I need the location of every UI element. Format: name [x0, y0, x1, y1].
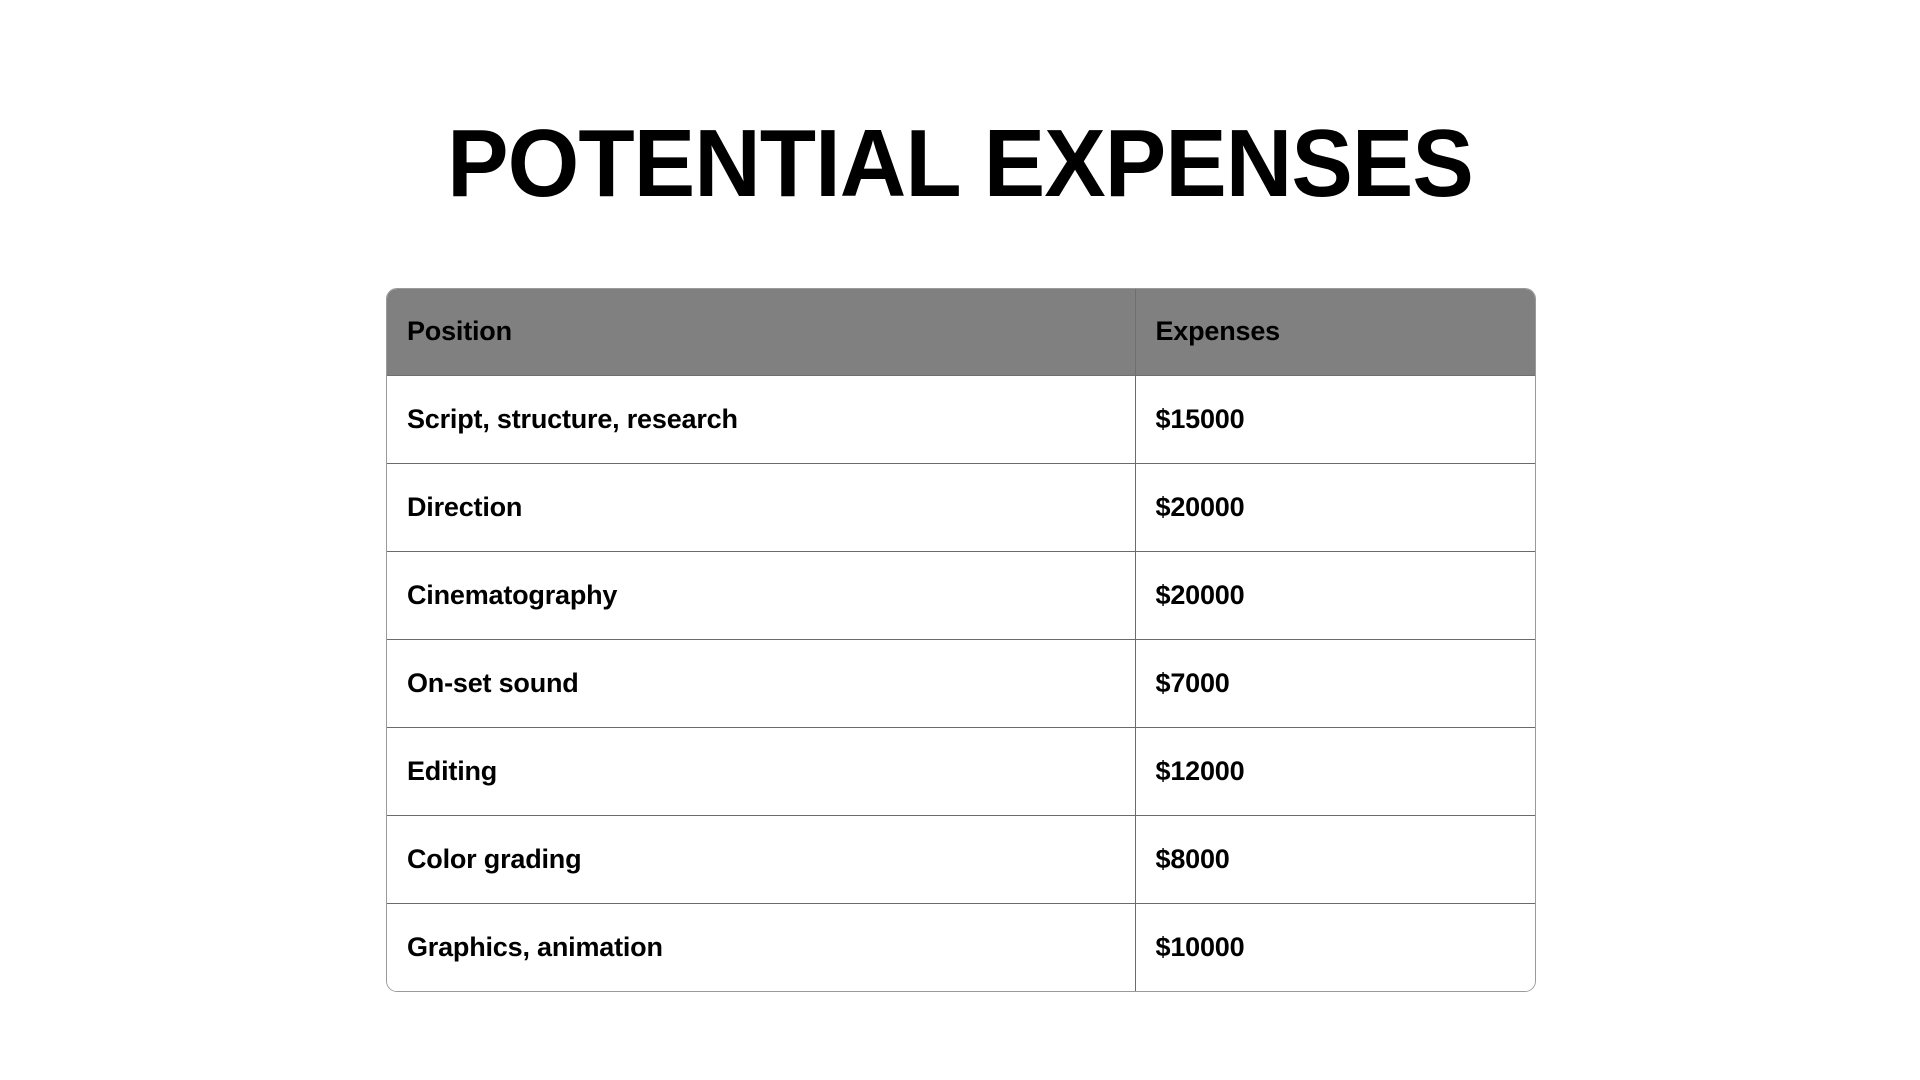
slide-canvas: POTENTIAL EXPENSES Position Expenses Scr…	[0, 0, 1920, 1080]
table-row: Cinematography $20000	[387, 551, 1535, 639]
table-header: Position Expenses	[387, 289, 1535, 375]
cell-position: Graphics, animation	[387, 903, 1135, 991]
cell-position: Script, structure, research	[387, 375, 1135, 463]
table-header-row: Position Expenses	[387, 289, 1535, 375]
cell-position: Color grading	[387, 815, 1135, 903]
cell-position: Direction	[387, 463, 1135, 551]
table-row: Script, structure, research $15000	[387, 375, 1535, 463]
table-row: Direction $20000	[387, 463, 1535, 551]
expenses-table-container: Position Expenses Script, structure, res…	[386, 288, 1536, 992]
table-row: Color grading $8000	[387, 815, 1535, 903]
cell-position: Cinematography	[387, 551, 1135, 639]
cell-expenses: $8000	[1135, 815, 1535, 903]
cell-expenses: $12000	[1135, 727, 1535, 815]
expenses-table: Position Expenses Script, structure, res…	[387, 289, 1535, 991]
table-row: On-set sound $7000	[387, 639, 1535, 727]
cell-position: On-set sound	[387, 639, 1135, 727]
page-title: POTENTIAL EXPENSES	[38, 112, 1881, 216]
column-header-position: Position	[387, 289, 1135, 375]
cell-expenses: $10000	[1135, 903, 1535, 991]
table-body: Script, structure, research $15000 Direc…	[387, 375, 1535, 991]
cell-expenses: $20000	[1135, 463, 1535, 551]
cell-expenses: $15000	[1135, 375, 1535, 463]
cell-expenses: $7000	[1135, 639, 1535, 727]
cell-position: Editing	[387, 727, 1135, 815]
table-row: Graphics, animation $10000	[387, 903, 1535, 991]
table-row: Editing $12000	[387, 727, 1535, 815]
cell-expenses: $20000	[1135, 551, 1535, 639]
column-header-expenses: Expenses	[1135, 289, 1535, 375]
